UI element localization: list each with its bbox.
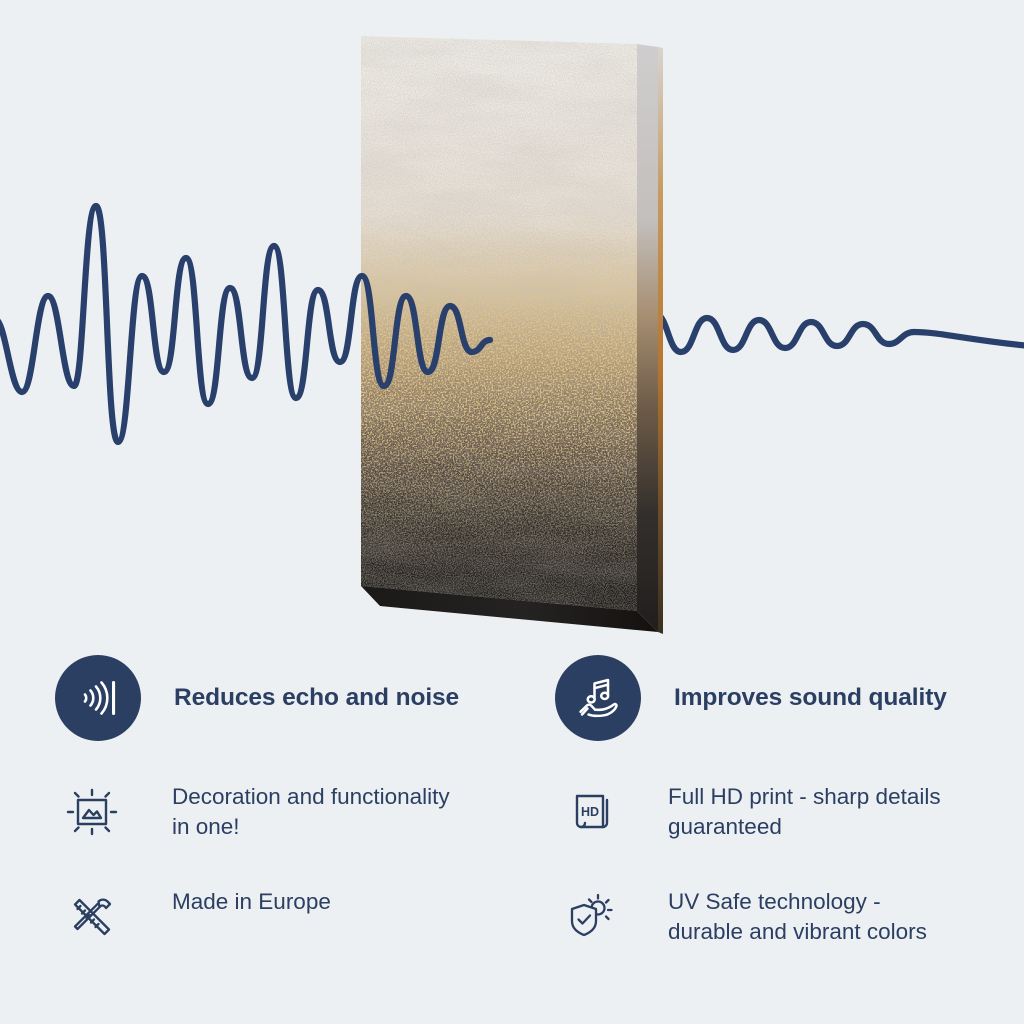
feature-line-1: Made in Europe <box>172 887 331 917</box>
feature-line-2: guaranteed <box>668 812 941 842</box>
canvas-side-edge <box>637 44 663 634</box>
feature-line-2: durable and vibrant colors <box>668 917 927 947</box>
badge-label: Reduces echo and noise <box>174 684 459 712</box>
feature-line-1: UV Safe technology - <box>668 887 927 917</box>
badge-label: Improves sound quality <box>674 684 947 712</box>
hd-label: HD <box>581 805 599 819</box>
hero-product-image <box>0 0 1024 660</box>
hand-music-note-icon <box>570 670 626 726</box>
gold-speckle-layer <box>361 36 637 611</box>
badge-improves-sound: Improves sound quality <box>555 648 947 748</box>
badge-circle <box>555 655 641 741</box>
feature-decoration: Decoration and functionality in one! <box>60 778 530 844</box>
feature-list: Decoration and functionality in one! HD … <box>0 778 1024 998</box>
uv-shield-sun-icon <box>560 885 624 949</box>
feature-text: Made in Europe <box>172 883 331 917</box>
framed-picture-shine-icon <box>60 780 124 844</box>
feature-line-1: Decoration and functionality <box>172 782 450 812</box>
canvas-artwork <box>361 36 637 611</box>
feature-line-1: Full HD print - sharp details <box>668 782 941 812</box>
wall-panel-bar <box>112 681 115 715</box>
sound-wave-absorption-icon <box>71 671 125 725</box>
feature-line-2: in one! <box>172 812 450 842</box>
feature-hd-print: HD Full HD print - sharp details guarant… <box>560 778 1024 844</box>
feature-badges: Reduces echo and noise <box>0 648 1024 758</box>
badge-circle <box>55 655 141 741</box>
badge-reduces-echo: Reduces echo and noise <box>55 648 459 748</box>
infographic-stage: Reduces echo and noise <box>0 0 1024 1024</box>
hd-print-icon: HD <box>560 780 624 844</box>
feature-uv-safe: UV Safe technology - durable and vibrant… <box>560 883 1024 949</box>
ruler-hammer-icon <box>60 885 124 949</box>
feature-text: Full HD print - sharp details guaranteed <box>668 778 941 842</box>
feature-text: Decoration and functionality in one! <box>172 778 450 842</box>
feature-made-in-europe: Made in Europe <box>60 883 530 949</box>
feature-text: UV Safe technology - durable and vibrant… <box>668 883 927 947</box>
hero-svg <box>0 0 1024 660</box>
